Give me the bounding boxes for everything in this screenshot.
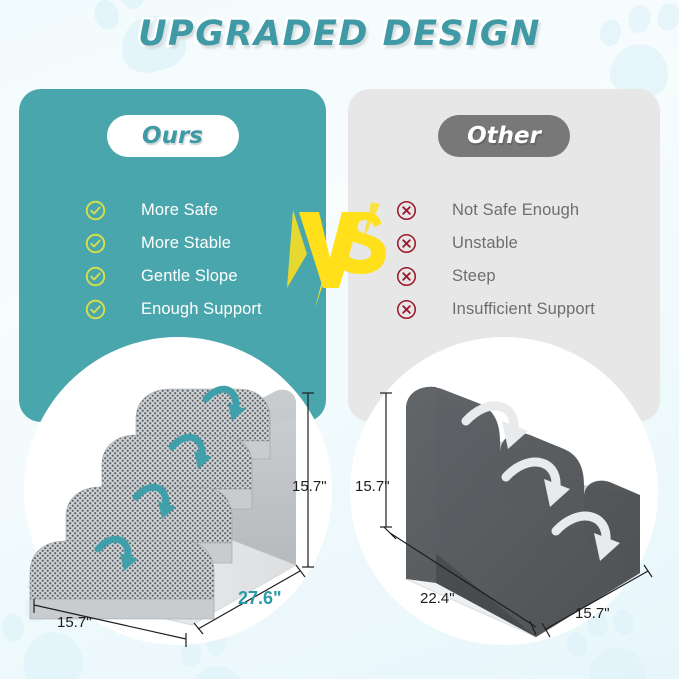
x-circle-icon (396, 266, 417, 287)
dimension-height-ours: 15.7" (292, 478, 327, 495)
feature-row: More Safe (19, 194, 326, 227)
feature-label: Unstable (452, 234, 518, 253)
page-title: UPGRADED DESIGN (138, 14, 541, 54)
page-title-wrapper: UPGRADED DESIGN (0, 14, 679, 54)
check-circle-icon (85, 266, 106, 287)
check-circle-icon (85, 299, 106, 320)
feature-label: Enough Support (141, 300, 262, 319)
feature-row: Gentle Slope (19, 260, 326, 293)
dimension-depth-ours: 27.6" (238, 588, 282, 609)
check-circle-icon (85, 233, 106, 254)
four-step-stairs-illustration (24, 337, 344, 657)
feature-label: Not Safe Enough (452, 201, 579, 220)
infographic-canvas: UPGRADED DESIGN Ours More Safe More Stab… (0, 0, 679, 679)
badge-other: Other (438, 115, 570, 157)
feature-label: Insufficient Support (452, 300, 595, 319)
dimension-depth-other: 22.4" (420, 590, 455, 607)
x-circle-icon (396, 233, 417, 254)
x-circle-icon (396, 299, 417, 320)
x-circle-icon (396, 200, 417, 221)
dimension-width-ours: 15.7" (57, 614, 92, 631)
feature-label: More Safe (141, 201, 218, 220)
feature-list-ours: More Safe More Stable Gentle Slope Enoug… (19, 194, 326, 326)
three-step-stairs-illustration (350, 337, 670, 657)
feature-label: More Stable (141, 234, 231, 253)
feature-label: Steep (452, 267, 496, 286)
feature-row: Enough Support (19, 293, 326, 326)
dimension-width-other: 15.7" (575, 605, 610, 622)
vs-badge: VS (285, 196, 397, 312)
feature-row: More Stable (19, 227, 326, 260)
dimension-height-other: 15.7" (355, 478, 390, 495)
badge-ours: Ours (107, 115, 239, 157)
feature-label: Gentle Slope (141, 267, 238, 286)
check-circle-icon (85, 200, 106, 221)
